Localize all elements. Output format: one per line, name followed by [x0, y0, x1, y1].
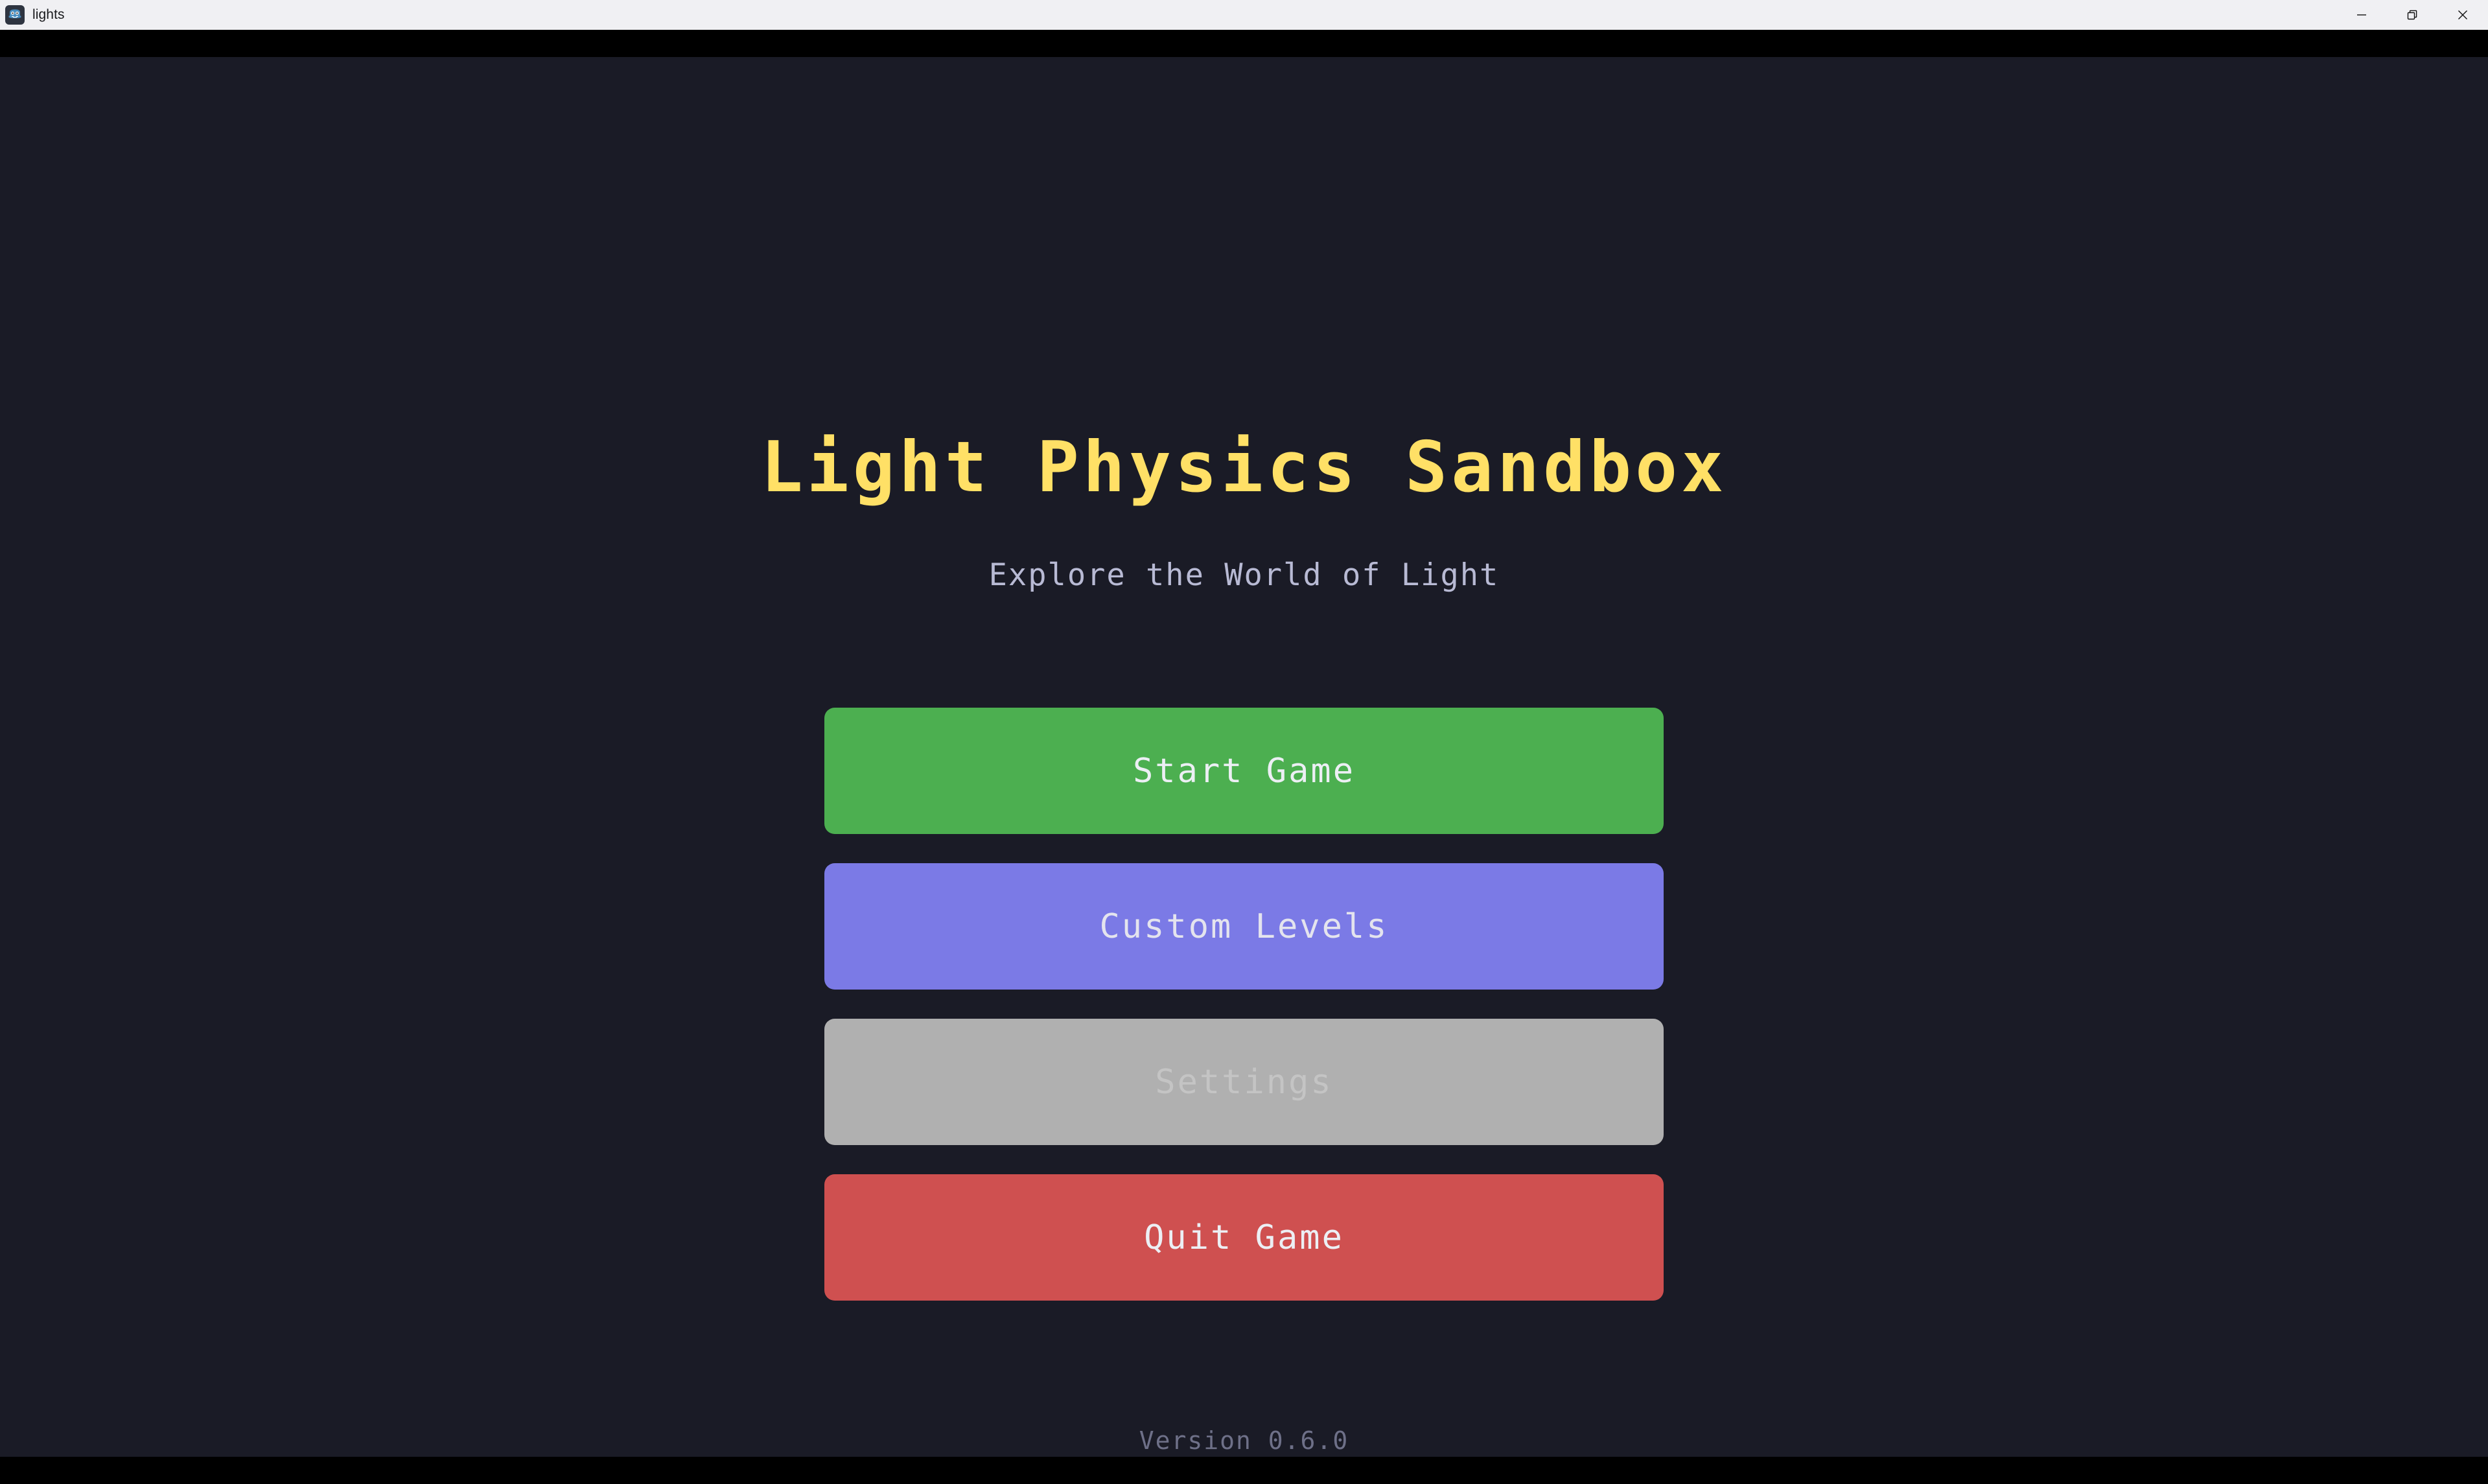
title-bar: lights — [0, 0, 2488, 30]
letterbox-area: Light Physics Sandbox Explore the World … — [0, 30, 2488, 1484]
custom-levels-button[interactable]: Custom Levels — [824, 863, 1664, 990]
window-title-text: lights — [32, 0, 65, 30]
version-label: Version 0.6.0 — [0, 1428, 2488, 1453]
application-window: lights — [0, 0, 2488, 1484]
window-controls — [2336, 0, 2488, 30]
godot-robot-icon — [5, 5, 25, 25]
main-menu: Light Physics Sandbox Explore the World … — [0, 57, 2488, 1457]
menu-button-list: Start Game Custom Levels Settings Quit G… — [824, 708, 1664, 1301]
minimize-button[interactable] — [2336, 0, 2387, 30]
subtitle: Explore the World of Light — [989, 560, 1500, 590]
game-viewport: Light Physics Sandbox Explore the World … — [0, 57, 2488, 1457]
quit-game-button[interactable]: Quit Game — [824, 1174, 1664, 1301]
page-title: Light Physics Sandbox — [761, 433, 1727, 503]
close-button[interactable] — [2437, 0, 2488, 30]
settings-button: Settings — [824, 1019, 1664, 1145]
restore-button[interactable] — [2387, 0, 2437, 30]
start-game-button[interactable]: Start Game — [824, 708, 1664, 834]
